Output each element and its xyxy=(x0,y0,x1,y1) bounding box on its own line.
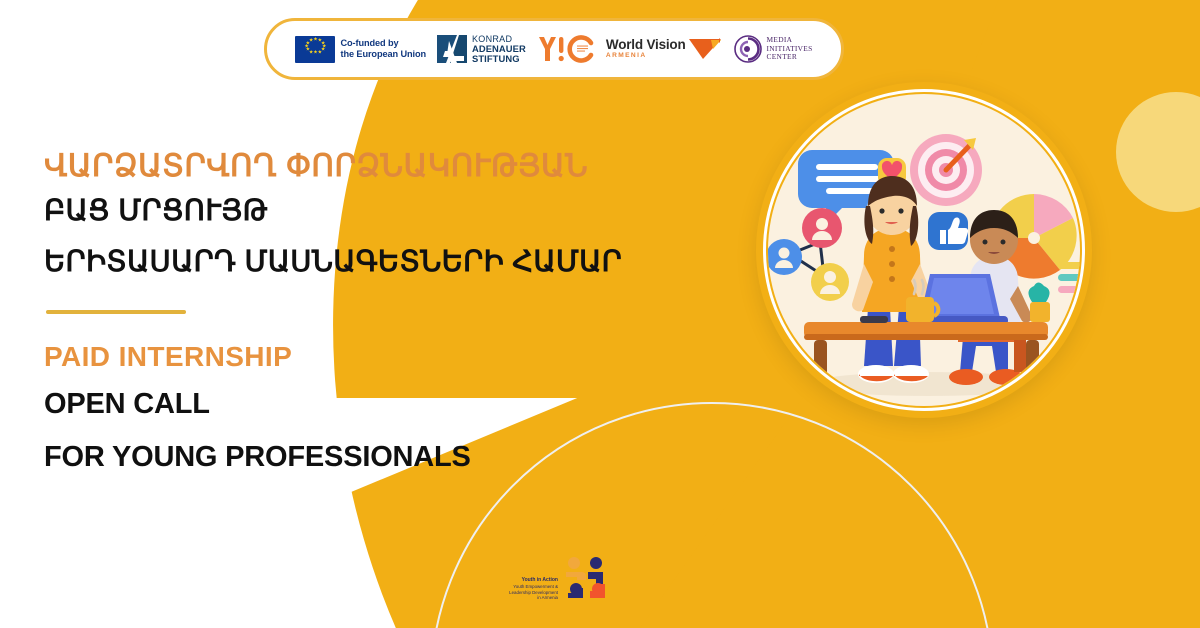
logo-youth-initiative-centre xyxy=(537,34,595,64)
youth-in-action-mark-icon xyxy=(561,556,613,604)
poster-canvas: ★ ★ ★ ★ ★ ★ ★ ★ ★ ★ ★ ★ Co-funded by the… xyxy=(0,0,1200,628)
mic-text-line3: CENTER xyxy=(767,53,813,61)
plant-icon xyxy=(1028,283,1050,323)
eu-text-line1: Co-funded by xyxy=(340,38,425,49)
kas-logo-text: KONRAD ADENAUER STIFTUNG xyxy=(472,35,526,64)
partner-logo-bar: ★ ★ ★ ★ ★ ★ ★ ★ ★ ★ ★ ★ Co-funded by the… xyxy=(264,18,844,80)
footer-logo-subtitle-3: in Armenia xyxy=(508,595,558,600)
illustration-artwork xyxy=(768,94,1080,406)
kas-text-line3: STIFTUNG xyxy=(472,54,526,64)
headline-english-line3: FOR YOUNG PROFESSIONALS xyxy=(44,432,764,482)
network-nodes-icon xyxy=(768,208,849,301)
eu-text-line2: the European Union xyxy=(340,49,425,60)
footer-logo-youth-in-action: Youth in Action Youth Empowerment & Lead… xyxy=(508,556,616,616)
mic-spiral-icon xyxy=(734,35,762,63)
headline-armenian-line1: ՎԱՐՁԱՏՐՎՈՂ ՓՈՐՁՆԱԿՈՒԹՅԱՆ xyxy=(44,146,764,186)
headline-armenian-line2: ԲԱՑ ՄՐՑՈՒՅԹ xyxy=(44,186,764,236)
kas-mark-icon xyxy=(437,35,467,63)
world-vision-country: ARMENIA xyxy=(606,52,686,60)
logo-world-vision: World Vision ARMENIA xyxy=(606,38,723,60)
illustration-face xyxy=(768,94,1080,406)
thumbs-up-icon xyxy=(928,212,968,250)
world-vision-flame-icon xyxy=(689,38,723,60)
yic-wordmark-icon xyxy=(537,34,595,64)
world-vision-text: World Vision ARMENIA xyxy=(606,38,686,60)
eu-flag-icon: ★ ★ ★ ★ ★ ★ ★ ★ ★ ★ ★ ★ xyxy=(295,36,335,63)
logo-media-initiatives-center: MEDIA INITIATIVES CENTER xyxy=(734,35,813,63)
world-vision-name: World Vision xyxy=(606,38,686,52)
logo-european-union: ★ ★ ★ ★ ★ ★ ★ ★ ★ ★ ★ ★ Co-funded by the… xyxy=(295,36,425,63)
eu-logo-text: Co-funded by the European Union xyxy=(340,38,425,60)
headline-block: ՎԱՐՁԱՏՐՎՈՂ ՓՈՐՁՆԱԿՈՒԹՅԱՆ ԲԱՑ ՄՐՑՈՒՅԹ ԵՐԻ… xyxy=(44,146,764,482)
footer-logo-title: Youth in Action xyxy=(508,578,558,583)
illustration xyxy=(756,82,1092,418)
mic-logo-text: MEDIA INITIATIVES CENTER xyxy=(767,36,813,61)
headline-armenian-line3: ԵՐԻՏԱՍԱՐԴ ՄԱՍՆԱԳԵՏՆԵՐԻ ՀԱՄԱՐ xyxy=(44,236,764,288)
headline-english-line1: PAID INTERNSHIP xyxy=(44,338,764,376)
target-icon xyxy=(910,134,982,206)
logo-konrad-adenauer-stiftung: KONRAD ADENAUER STIFTUNG xyxy=(437,35,526,64)
phone-icon xyxy=(860,316,888,323)
footer-logo-text: Youth in Action Youth Empowerment & Lead… xyxy=(508,556,558,601)
headline-divider xyxy=(46,310,186,314)
bar-chart-icon xyxy=(1058,262,1080,293)
headline-english-line2: OPEN CALL xyxy=(44,376,764,432)
